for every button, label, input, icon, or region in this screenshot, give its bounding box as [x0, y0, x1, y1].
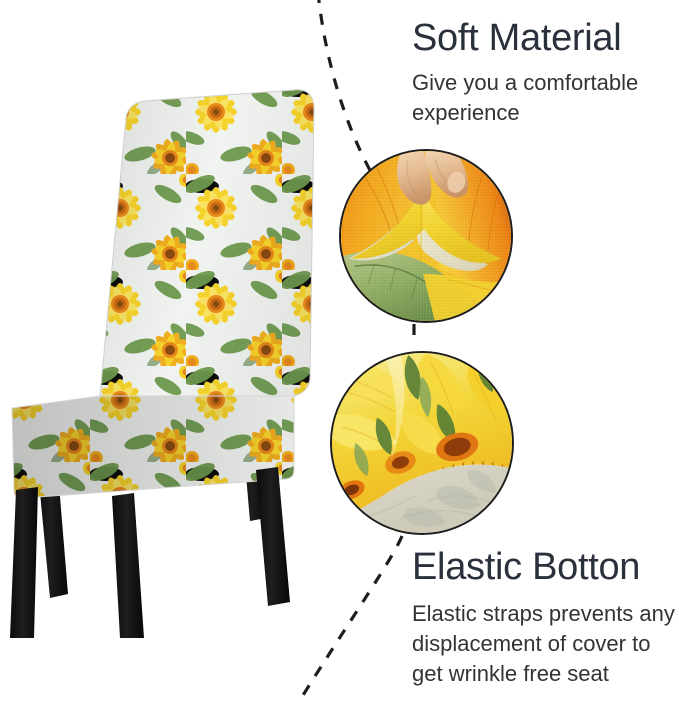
- chair-leg-front-left: [10, 487, 38, 638]
- fabric-pinch-closeup: [341, 151, 511, 321]
- chair-backrest: [84, 78, 334, 423]
- soft-material-body: Give you a comfortable experience: [412, 68, 674, 128]
- detail-circle-soft-material: [339, 149, 513, 323]
- chair-product-image: [0, 78, 334, 638]
- elastic-bottom-heading: Elastic Botton: [412, 545, 678, 589]
- feature-block-soft-material: Soft Material Give you a comfortable exp…: [412, 16, 674, 128]
- elastic-hem-closeup: [332, 353, 512, 533]
- feature-block-elastic-bottom: Elastic Botton Elastic straps prevents a…: [412, 545, 678, 689]
- infographic-canvas: Soft Material Give you a comfortable exp…: [0, 0, 679, 703]
- soft-material-heading: Soft Material: [412, 16, 674, 60]
- chair-leg-front-right: [256, 467, 290, 606]
- elastic-bottom-body: Elastic straps prevents any displacement…: [412, 599, 678, 689]
- detail-circle-elastic-bottom: [330, 351, 514, 535]
- chair-illustration: [0, 78, 334, 638]
- chair-leg-mid: [112, 493, 144, 638]
